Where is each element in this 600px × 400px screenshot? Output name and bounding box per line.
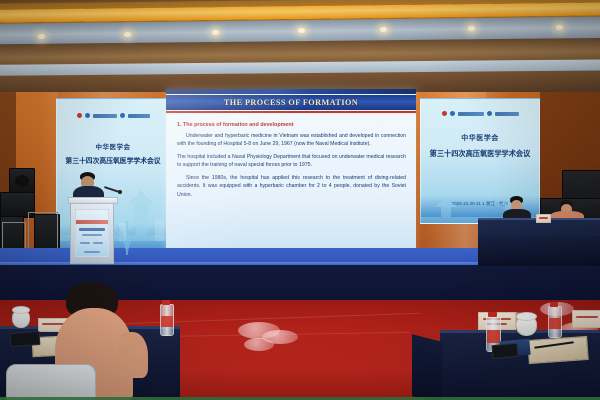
head-table-skirt — [478, 236, 600, 266]
downlight-icon — [380, 27, 387, 32]
slide-title: THE PROCESS OF FORMATION — [224, 98, 358, 107]
society-logo-icon — [77, 113, 82, 118]
lectern-sign-line-3 — [80, 242, 90, 244]
projection-screen: THE PROCESS OF FORMATION 1. The process … — [166, 89, 416, 257]
banner-right-event-name: 第三十四次高压氧医学学术会议 — [425, 149, 536, 159]
teacup-lid — [12, 306, 30, 314]
slide-paragraph-3: Since the 1980s, the hospital has applie… — [177, 174, 406, 199]
downlight-icon — [556, 25, 563, 30]
tablet-device — [10, 331, 41, 347]
downlight-icon — [212, 30, 219, 35]
lectern-sign-line-4 — [93, 242, 103, 244]
speaker-cone-icon — [15, 175, 29, 187]
banner-right-organization: 中华医学会 — [426, 133, 535, 143]
bottle-label — [161, 316, 173, 327]
tablet-device — [491, 343, 518, 359]
banner-left-organization: 中华医学会 — [61, 141, 164, 151]
banner-right: 中华医学会 第三十四次高压氧医学学术会议 2025.10.30-11.1 浙江 … — [420, 98, 540, 224]
water-bottle — [548, 306, 562, 338]
loudspeaker-stack-top — [9, 168, 35, 194]
foreground-table-right-side — [412, 334, 442, 400]
stage-plant — [114, 215, 140, 255]
name-card-text — [42, 323, 63, 325]
slide-paragraph-1: Underwater and hyperbaric medicine in Vi… — [177, 132, 406, 149]
carpet-petal-motif — [244, 338, 274, 351]
bottle-label — [487, 330, 500, 343]
ceiling — [0, 0, 600, 96]
head-table-name-card — [536, 214, 551, 223]
notepad — [527, 336, 589, 364]
banner-left-badges — [57, 113, 169, 118]
lectern — [70, 200, 114, 264]
water-bottle — [160, 304, 174, 336]
slide-body: 1. The process of formation and developm… — [166, 115, 416, 249]
slide-accent-rule — [166, 111, 416, 113]
attendee-front-arm — [118, 332, 148, 378]
society-logo-icon — [442, 111, 447, 116]
banner-left-event-name: 第三十四次高压氧医学学术会议 — [60, 155, 165, 165]
lectern-sign-ribbon — [76, 220, 108, 224]
name-card-text — [539, 217, 549, 219]
lectern-sign-line-5 — [84, 251, 99, 253]
lectern-sign-line-2 — [82, 234, 101, 236]
name-card-text — [576, 316, 597, 318]
lectern-sign — [75, 209, 109, 257]
publisher-logo-icon — [450, 111, 455, 116]
lectern-sign-line-1 — [79, 228, 105, 231]
downlight-icon — [124, 32, 131, 37]
name-card — [572, 310, 600, 328]
slide-paragraph-2: The hospital included a Naval Physiology… — [177, 153, 406, 170]
bottle-cap — [488, 312, 497, 317]
slide-section-heading: 1. The process of formation and developm… — [177, 122, 406, 128]
conference-hall-photo: 中华医学会 第三十四次高压氧医学学术会议 — [0, 0, 600, 400]
badge-text-1 — [93, 114, 117, 118]
bottle-cap — [550, 302, 558, 307]
slide-top-bar — [166, 89, 416, 94]
badge-text-1 — [458, 112, 484, 116]
downlight-icon — [298, 28, 305, 33]
bottle-label — [549, 318, 561, 329]
badge-text-2 — [128, 114, 150, 118]
province-logo-icon — [120, 113, 125, 118]
lectern-top — [68, 197, 118, 204]
downlight-icon — [38, 34, 45, 39]
teacup-lid — [516, 312, 537, 321]
bottle-cap — [162, 300, 170, 305]
downlight-icon — [468, 26, 475, 31]
chair-back — [6, 364, 96, 400]
publisher-logo-icon — [85, 113, 90, 118]
province-logo-icon — [487, 111, 492, 116]
badge-text-2 — [495, 112, 519, 116]
slide-title-bar: THE PROCESS OF FORMATION — [166, 95, 416, 110]
banner-right-badges — [421, 111, 539, 116]
microphone-head-icon — [118, 190, 122, 194]
